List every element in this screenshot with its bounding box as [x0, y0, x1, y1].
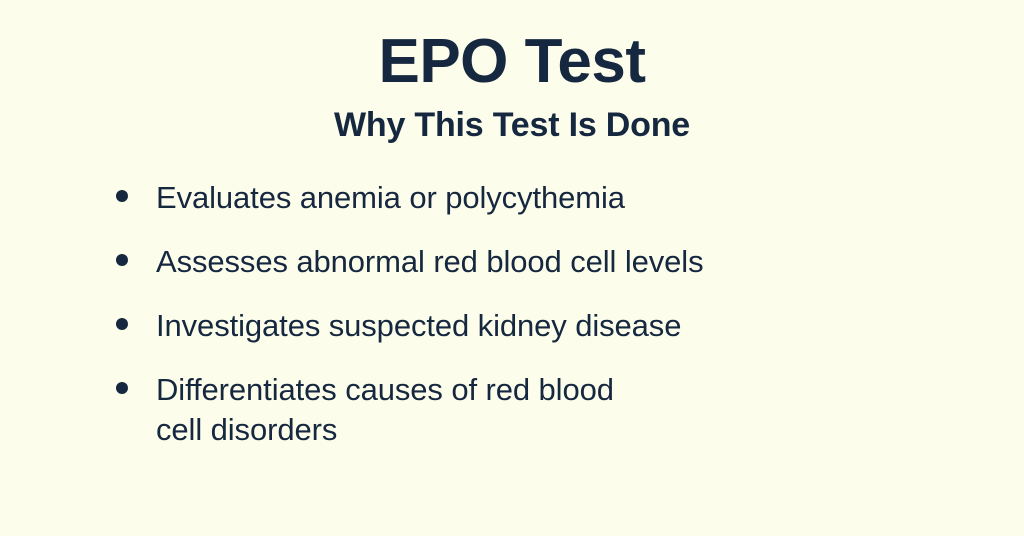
list-item-label: Differentiates causes of red blood cell …: [156, 370, 614, 450]
bullet-dot-icon: [116, 318, 128, 330]
list-item: Evaluates anemia or polycythemia: [116, 178, 956, 218]
list-item-label: Evaluates anemia or polycythemia: [156, 178, 625, 218]
list-item-label: Assesses abnormal red blood cell levels: [156, 242, 704, 282]
bullet-list: Evaluates anemia or polycythemia Assesse…: [116, 178, 956, 474]
slide-header: EPO Test Why This Test Is Done: [0, 0, 1024, 146]
bullet-dot-icon: [116, 254, 128, 266]
list-item: Assesses abnormal red blood cell levels: [116, 242, 956, 282]
list-item: Differentiates causes of red blood cell …: [116, 370, 956, 450]
page-title: EPO Test: [0, 26, 1024, 97]
list-item: Investigates suspected kidney disease: [116, 306, 956, 346]
page-subtitle: Why This Test Is Done: [0, 105, 1024, 146]
bullet-dot-icon: [116, 382, 128, 394]
list-item-label: Investigates suspected kidney disease: [156, 306, 681, 346]
slide-canvas: EPO Test Why This Test Is Done Evaluates…: [0, 0, 1024, 536]
bullet-dot-icon: [116, 190, 128, 202]
